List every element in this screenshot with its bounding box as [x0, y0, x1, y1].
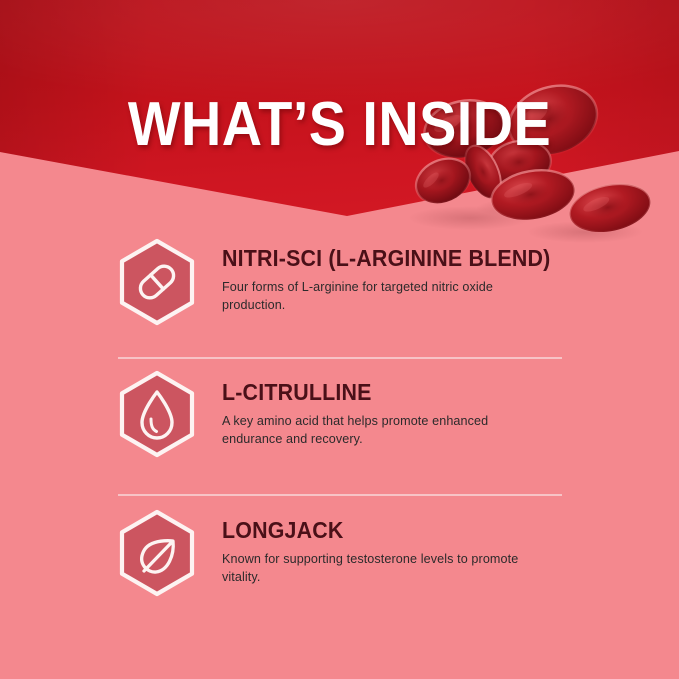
droplet-icon [118, 370, 196, 458]
ingredient-row: L-CITRULLINE A key amino acid that helps… [0, 358, 679, 495]
ingredient-icon-badge [118, 238, 196, 326]
ingredient-icon-badge [118, 509, 196, 597]
ingredient-description: A key amino acid that helps promote enha… [222, 413, 552, 448]
capsule-icon [118, 238, 196, 326]
leaf-icon [118, 509, 196, 597]
ingredient-list: NITRI-SCI (L-ARGININE BLEND) Four forms … [0, 232, 679, 635]
ingredient-text: NITRI-SCI (L-ARGININE BLEND) Four forms … [196, 232, 679, 314]
ingredient-title: LONGJACK [222, 518, 647, 542]
ingredient-description: Four forms of L-arginine for targeted ni… [222, 279, 552, 314]
ingredient-title: L-CITRULLINE [222, 380, 647, 404]
ingredient-row: NITRI-SCI (L-ARGININE BLEND) Four forms … [0, 232, 679, 358]
ingredient-text: L-CITRULLINE A key amino acid that helps… [196, 358, 679, 448]
ingredient-title: NITRI-SCI (L-ARGININE BLEND) [222, 246, 647, 270]
ingredient-icon-badge [118, 370, 196, 458]
ingredient-row: LONGJACK Known for supporting testostero… [0, 495, 679, 635]
ingredient-text: LONGJACK Known for supporting testostero… [196, 495, 679, 586]
row-divider [118, 357, 562, 359]
ingredient-description: Known for supporting testosterone levels… [222, 551, 552, 586]
whats-inside-poster: WHAT’S INSIDE [0, 0, 679, 679]
page-title: WHAT’S INSIDE [34, 92, 645, 158]
row-divider [118, 494, 562, 496]
